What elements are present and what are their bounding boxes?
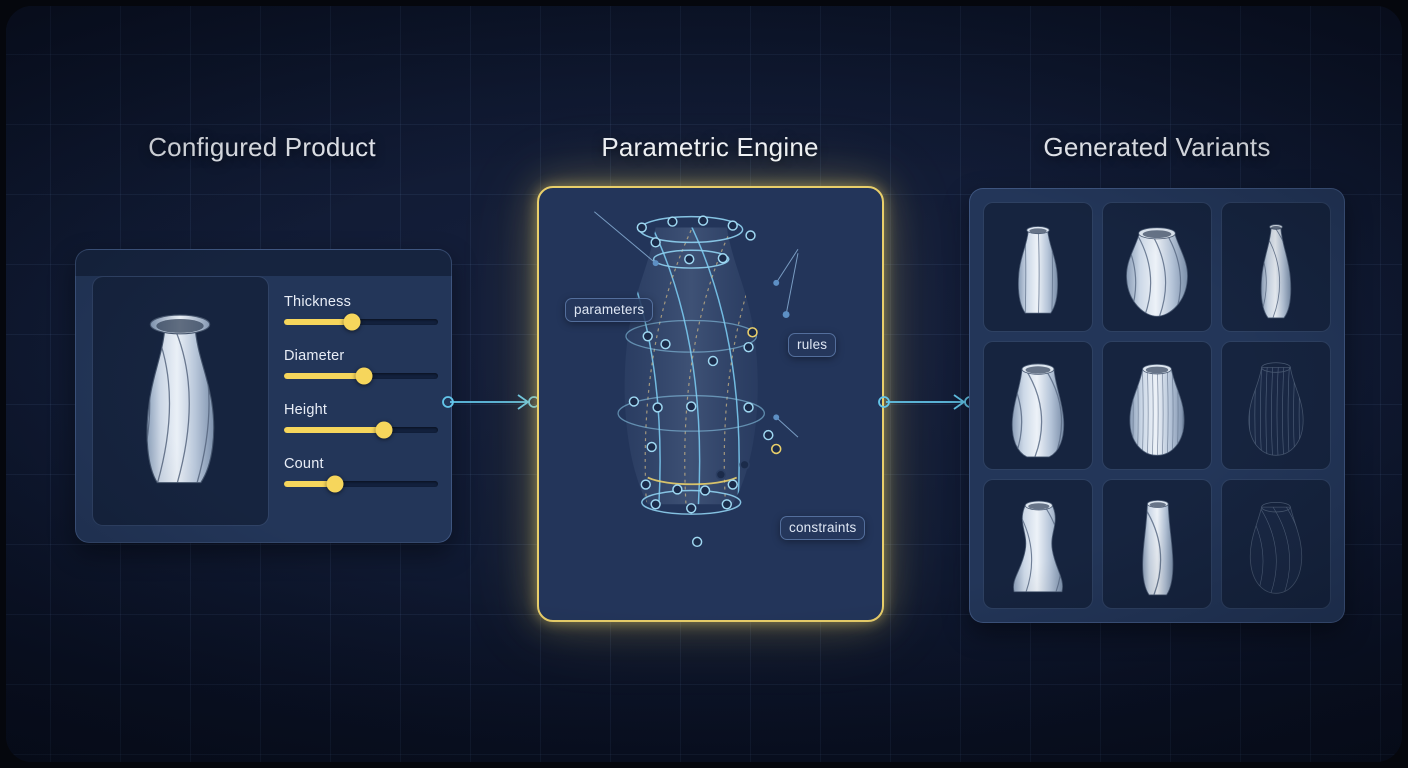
diagram-frame: Configured Product Parametric Engine Gen… [6,6,1402,762]
vignette-overlay [6,6,1402,762]
